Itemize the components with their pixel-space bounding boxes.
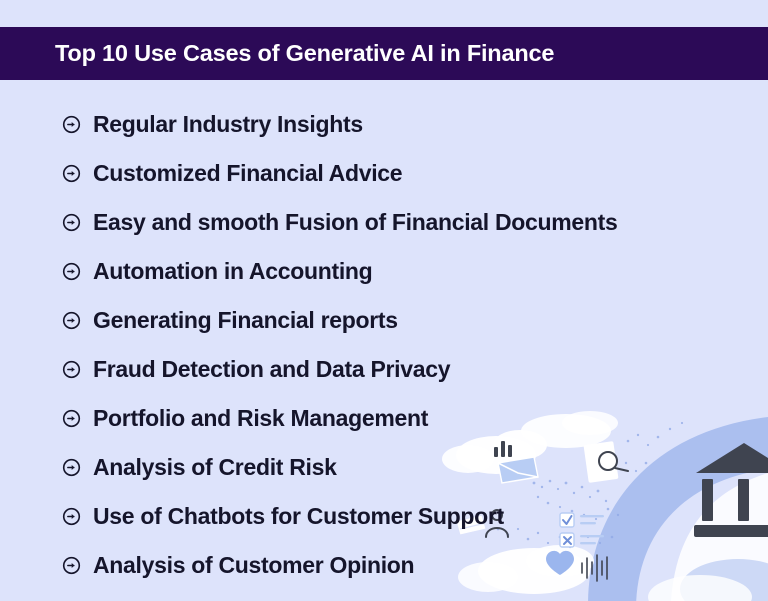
list-item-label: Analysis of Credit Risk	[93, 456, 337, 479]
arrow-in-circle-icon	[62, 458, 81, 477]
arrow-in-circle-icon	[62, 311, 81, 330]
list-item: Analysis of Credit Risk	[0, 443, 768, 492]
arrow-in-circle-icon	[62, 360, 81, 379]
arrow-in-circle-icon	[62, 507, 81, 526]
list-item-label: Analysis of Customer Opinion	[93, 554, 414, 577]
arrow-in-circle-icon	[62, 556, 81, 575]
list-item-label: Use of Chatbots for Customer Support	[93, 505, 504, 528]
arrow-in-circle-icon	[62, 115, 81, 134]
use-case-list: Regular Industry Insights Customized Fin…	[0, 100, 768, 590]
list-item-label: Generating Financial reports	[93, 309, 398, 332]
list-item-label: Customized Financial Advice	[93, 162, 402, 185]
list-item-label: Fraud Detection and Data Privacy	[93, 358, 450, 381]
arrow-in-circle-icon	[62, 213, 81, 232]
list-item: Customized Financial Advice	[0, 149, 768, 198]
list-item: Easy and smooth Fusion of Financial Docu…	[0, 198, 768, 247]
list-item: Analysis of Customer Opinion	[0, 541, 768, 590]
list-item: Portfolio and Risk Management	[0, 394, 768, 443]
arrow-in-circle-icon	[62, 164, 81, 183]
list-item: Generating Financial reports	[0, 296, 768, 345]
list-item-label: Automation in Accounting	[93, 260, 372, 283]
arrow-in-circle-icon	[62, 262, 81, 281]
list-item: Use of Chatbots for Customer Support	[0, 492, 768, 541]
infographic-canvas: Top 10 Use Cases of Generative AI in Fin…	[0, 0, 768, 601]
page-title: Top 10 Use Cases of Generative AI in Fin…	[0, 40, 554, 67]
list-item-label: Easy and smooth Fusion of Financial Docu…	[93, 211, 618, 234]
title-bar: Top 10 Use Cases of Generative AI in Fin…	[0, 27, 768, 80]
arrow-in-circle-icon	[62, 409, 81, 428]
list-item: Fraud Detection and Data Privacy	[0, 345, 768, 394]
list-item-label: Regular Industry Insights	[93, 113, 363, 136]
list-item: Regular Industry Insights	[0, 100, 768, 149]
list-item: Automation in Accounting	[0, 247, 768, 296]
list-item-label: Portfolio and Risk Management	[93, 407, 428, 430]
